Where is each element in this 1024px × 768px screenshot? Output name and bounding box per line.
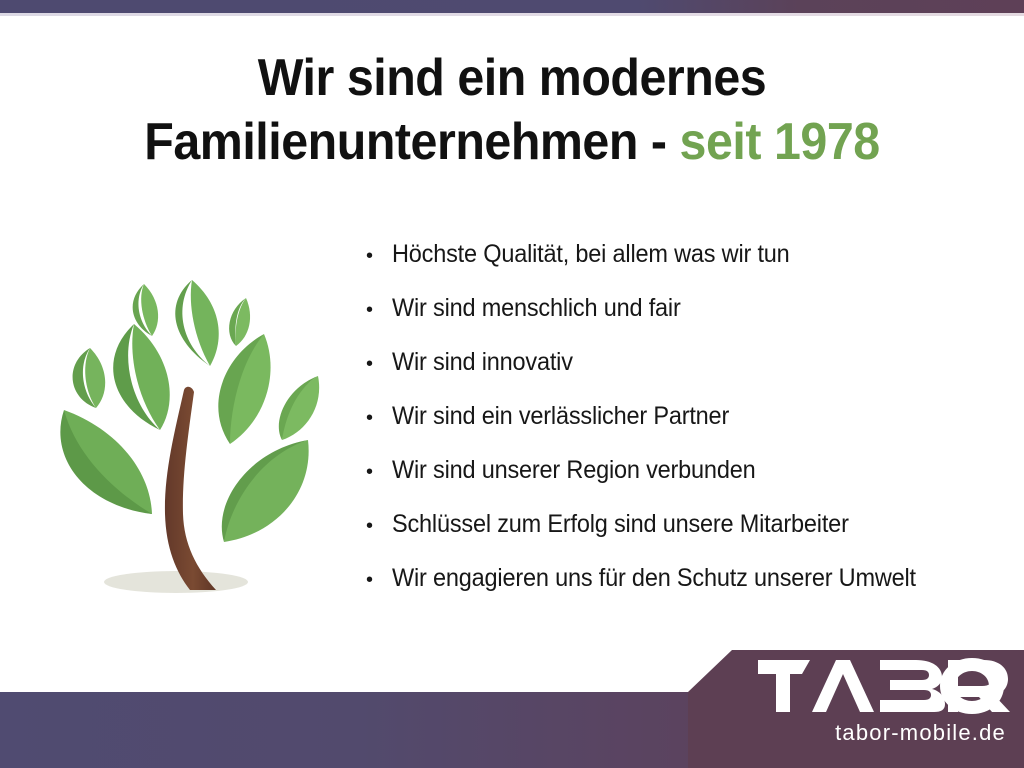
bullet-dot-icon: •: [366, 408, 392, 428]
tree-illustration: [24, 252, 348, 604]
list-item: • Höchste Qualität, bei allem was wir tu…: [366, 240, 1016, 294]
title-line-1: Wir sind ein modernes: [36, 46, 988, 110]
leaf-left-upper-large: [113, 324, 170, 430]
list-item-label: Wir sind menschlich und fair: [392, 294, 681, 323]
list-item: • Wir sind innovativ: [366, 348, 1016, 402]
top-hairline-divider: [0, 13, 1024, 16]
logo-panel: [688, 650, 1024, 768]
bullet-dot-icon: •: [366, 570, 392, 590]
leaf-top-center: [175, 280, 218, 366]
bullet-list: • Höchste Qualität, bei allem was wir tu…: [366, 240, 1016, 618]
page-title: Wir sind ein modernes Familienunternehme…: [36, 46, 988, 174]
bullet-dot-icon: •: [366, 462, 392, 482]
list-item-label: Wir sind ein verlässlicher Partner: [392, 402, 729, 431]
ground-shadow: [104, 571, 248, 593]
tree-trunk: [165, 387, 216, 590]
leaf-lower-right-large: [222, 440, 309, 542]
leaf-right-upper-large: [218, 334, 270, 444]
list-item: • Wir sind ein verlässlicher Partner: [366, 402, 1016, 456]
leaf-upper-right-small: [229, 298, 250, 346]
list-item-label: Höchste Qualität, bei allem was wir tun: [392, 240, 790, 269]
logo-panel-shape: [688, 650, 1024, 768]
bullet-dot-icon: •: [366, 354, 392, 374]
list-item: • Wir sind unserer Region verbunden: [366, 456, 1016, 510]
bullet-dot-icon: •: [366, 246, 392, 266]
list-item: • Schlüssel zum Erfolg sind unsere Mitar…: [366, 510, 1016, 564]
bullet-dot-icon: •: [366, 300, 392, 320]
list-item-label: Wir sind unserer Region verbunden: [392, 456, 755, 485]
title-accent-year: seit 1978: [680, 113, 880, 171]
leaf-far-left-small: [73, 348, 106, 408]
title-line-2-main: Familienunternehmen -: [144, 113, 679, 171]
list-item: • Wir engagieren uns für den Schutz unse…: [366, 564, 1016, 618]
list-item-label: Wir sind innovativ: [392, 348, 573, 377]
leaf-far-right: [279, 376, 319, 440]
top-accent-band: [0, 0, 1024, 13]
list-item-label: Schlüssel zum Erfolg sind unsere Mitarbe…: [392, 510, 849, 539]
leaf-lower-left-large: [60, 410, 152, 514]
title-line-2: Familienunternehmen - seit 1978: [36, 110, 988, 174]
list-item-label: Wir engagieren uns für den Schutz unsere…: [392, 564, 916, 593]
list-item: • Wir sind menschlich und fair: [366, 294, 1016, 348]
bullet-dot-icon: •: [366, 516, 392, 536]
slide-root: Wir sind ein modernes Familienunternehme…: [0, 0, 1024, 768]
